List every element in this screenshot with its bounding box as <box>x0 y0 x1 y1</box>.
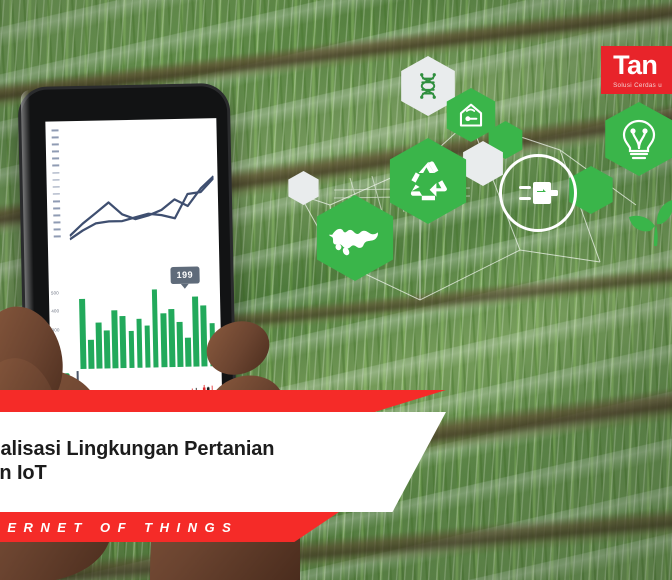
banner-subtitle: ...ERNET OF THINGS <box>0 520 238 535</box>
globe-glyph <box>329 216 381 260</box>
y-axis-labels: 500400300200100 <box>51 291 61 369</box>
banner-red-bottom-strip: ...ERNET OF THINGS <box>0 512 446 542</box>
green-bar <box>152 289 159 367</box>
green-bar <box>112 310 119 369</box>
power-plug-icon[interactable] <box>499 154 577 232</box>
green-bar <box>128 331 134 368</box>
green-bar <box>120 317 127 369</box>
y-axis-ticks <box>52 129 61 237</box>
dna-glyph <box>413 71 443 101</box>
leaf-glyph <box>628 196 672 248</box>
logo-brand-name: Tan <box>613 52 662 79</box>
lightbulb-glyph <box>619 117 659 161</box>
green-bar <box>88 339 94 368</box>
green-bar <box>177 322 184 367</box>
brand-logo[interactable]: Tan Solusi Cerdas u <box>601 46 672 94</box>
green-bar <box>96 323 103 369</box>
value-tooltip: 199 <box>170 266 199 283</box>
green-bar <box>192 297 199 367</box>
page-title-line2: ...an IoT <box>0 461 446 485</box>
stacked-bar-line-chart[interactable] <box>45 118 219 266</box>
page-title-line1: ...nalisasi Lingkungan Pertanian <box>0 437 446 461</box>
green-bar <box>144 326 150 368</box>
recycle-glyph <box>404 157 452 205</box>
trend-lines <box>68 158 215 265</box>
smart-home-glyph <box>457 101 485 129</box>
green-bar <box>168 309 175 367</box>
y-tick-label: 400 <box>51 310 59 315</box>
logo-red-block: Tan Solusi Cerdas u <box>601 46 672 94</box>
green-bars <box>79 288 216 369</box>
green-bar <box>79 299 86 369</box>
green-bar <box>185 338 191 367</box>
smartphone-device: 199 500400300200100 <box>21 86 234 410</box>
poster-canvas: 199 500400300200100 <box>0 0 672 580</box>
logo-tagline: Solusi Cerdas u <box>613 82 662 89</box>
green-bar-chart[interactable]: 199 500400300200100 <box>48 262 221 370</box>
up-arrow-icon <box>59 378 65 383</box>
banner-white-panel: ...nalisasi Lingkungan Pertanian ...an I… <box>0 412 446 512</box>
y-tick-label: 300 <box>52 328 60 333</box>
power-plug-glyph <box>517 176 559 210</box>
green-bar <box>136 319 143 368</box>
green-bar <box>201 305 208 366</box>
y-tick-label: 500 <box>51 291 59 296</box>
banner-red-top-strip <box>0 390 446 412</box>
green-bar <box>104 331 110 369</box>
leaf-icon[interactable] <box>628 196 672 248</box>
title-banner: ...nalisasi Lingkungan Pertanian ...an I… <box>0 390 446 542</box>
green-bar <box>160 313 167 367</box>
phone-screen[interactable]: 199 500400300200100 <box>45 118 222 410</box>
green-bar <box>209 323 215 366</box>
up-arrow-button[interactable] <box>55 373 70 387</box>
y-tick-label: 200 <box>52 347 60 352</box>
